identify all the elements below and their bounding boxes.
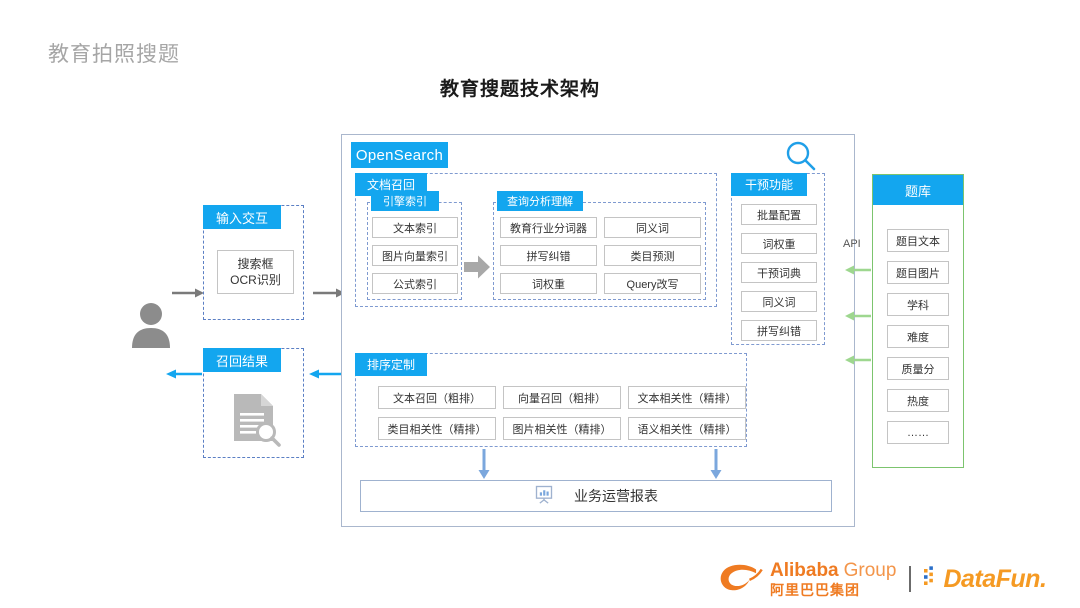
arrow-user-to-input-icon xyxy=(172,285,204,295)
query-analysis-item[interactable]: 同义词 xyxy=(604,217,701,238)
engine-index-panel: 引擎索引 文本索引 图片向量索引 公式索引 xyxy=(367,202,462,300)
slide-canvas: 教育拍照搜题 教育搜题技术架构 输入交互 搜索框 OCR识别 召回结果 xyxy=(0,0,1080,608)
ranking-item[interactable]: 文本相关性（精排） xyxy=(628,386,746,409)
arrow-down-report-left-icon xyxy=(478,449,490,479)
query-analysis-item[interactable]: 教育行业分词器 xyxy=(500,217,597,238)
api-label: API xyxy=(843,238,861,250)
person-icon xyxy=(130,300,172,348)
engine-index-item[interactable]: 图片向量索引 xyxy=(372,245,458,266)
datafun-logo: DataFun. xyxy=(924,565,1046,594)
arrow-down-report-right-icon xyxy=(710,449,722,479)
arrow-left-green-icon xyxy=(845,262,871,272)
operations-report-label: 业务运营报表 xyxy=(574,486,658,506)
alibaba-group-logo: AlibabaGroup 阿里巴巴集团 xyxy=(718,561,896,598)
question-bank-item[interactable]: 热度 xyxy=(887,389,949,412)
input-line-1: 搜索框 xyxy=(237,256,273,272)
engine-index-label: 引擎索引 xyxy=(371,191,439,211)
query-analysis-panel: 查询分析理解 教育行业分词器 同义词 拼写纠错 类目预测 词权重 Query改写 xyxy=(493,202,706,300)
logo-divider xyxy=(909,566,911,592)
intervention-panel: 干预功能 批量配置 词权重 干预词典 同义词 拼写纠错 xyxy=(731,173,825,345)
arrow-left-green-icon xyxy=(845,352,871,362)
ranking-item[interactable]: 语义相关性（精排） xyxy=(628,417,746,440)
alibaba-name-group: Group xyxy=(844,560,897,581)
recall-result-label: 召回结果 xyxy=(203,348,281,372)
arrow-left-green-icon xyxy=(845,308,871,318)
question-bank-item[interactable]: 题目文本 xyxy=(887,229,949,252)
intervention-item[interactable]: 批量配置 xyxy=(741,204,817,225)
document-search-icon xyxy=(227,391,283,447)
query-analysis-item[interactable]: 类目预测 xyxy=(604,245,701,266)
question-bank-item[interactable]: 学科 xyxy=(887,293,949,316)
intervention-item[interactable]: 词权重 xyxy=(741,233,817,254)
arrow-engine-to-recall-icon xyxy=(309,366,345,376)
doc-recall-panel: 文档召回 引擎索引 文本索引 图片向量索引 公式索引 查询分析理解 教育行业分词… xyxy=(355,173,717,307)
input-method-box: 搜索框 OCR识别 xyxy=(217,250,294,294)
datafun-dots-icon xyxy=(924,566,940,593)
intervention-label: 干预功能 xyxy=(731,173,807,196)
input-interaction-label: 输入交互 xyxy=(203,205,281,229)
engine-index-item[interactable]: 文本索引 xyxy=(372,217,458,238)
intervention-item[interactable]: 干预词典 xyxy=(741,262,817,283)
arrow-right-block-icon xyxy=(464,255,490,279)
question-bank-label: 题库 xyxy=(873,175,963,205)
intervention-item[interactable]: 拼写纠错 xyxy=(741,320,817,341)
query-analysis-item[interactable]: 词权重 xyxy=(500,273,597,294)
input-line-2: OCR识别 xyxy=(230,272,281,288)
query-analysis-label: 查询分析理解 xyxy=(497,191,583,211)
query-analysis-item[interactable]: 拼写纠错 xyxy=(500,245,597,266)
ranking-customization-panel: 排序定制 文本召回（粗排） 向量召回（粗排） 文本相关性（精排） 类目相关性（精… xyxy=(355,353,747,447)
question-bank-panel: 题库 题目文本 题目图片 学科 难度 质量分 热度 …… xyxy=(872,174,964,468)
recall-result-panel: 召回结果 xyxy=(203,348,304,458)
question-bank-item[interactable]: 质量分 xyxy=(887,357,949,380)
slide-title: 教育搜题技术架构 xyxy=(440,74,600,101)
ranking-item[interactable]: 向量召回（粗排） xyxy=(503,386,621,409)
chart-board-icon xyxy=(534,484,554,509)
ranking-item[interactable]: 类目相关性（精排） xyxy=(378,417,496,440)
question-bank-item[interactable]: 题目图片 xyxy=(887,261,949,284)
query-analysis-item[interactable]: Query改写 xyxy=(604,273,701,294)
input-interaction-panel: 输入交互 搜索框 OCR识别 xyxy=(203,205,304,320)
opensearch-title: OpenSearch xyxy=(351,142,448,168)
question-bank-item[interactable]: 难度 xyxy=(887,325,949,348)
intervention-item[interactable]: 同义词 xyxy=(741,291,817,312)
question-bank-item[interactable]: …… xyxy=(887,421,949,444)
ranking-item[interactable]: 文本召回（粗排） xyxy=(378,386,496,409)
alibaba-name-cn: 阿里巴巴集团 xyxy=(770,583,896,597)
engine-index-item[interactable]: 公式索引 xyxy=(372,273,458,294)
slide-kicker: 教育拍照搜题 xyxy=(48,38,180,68)
operations-report-bar[interactable]: 业务运营报表 xyxy=(360,480,832,512)
datafun-name: DataFun. xyxy=(943,565,1046,594)
arrow-recall-out-icon xyxy=(166,366,202,376)
alibaba-name-en: Alibaba xyxy=(770,560,839,581)
alibaba-smile-icon xyxy=(718,561,764,598)
opensearch-container: OpenSearch 文档召回 引擎索引 文本索引 图片向量索引 公式索引 查询… xyxy=(341,134,855,527)
search-icon[interactable] xyxy=(783,140,819,172)
footer-logos: AlibabaGroup 阿里巴巴集团 DataFun. xyxy=(718,557,1068,601)
ranking-label: 排序定制 xyxy=(355,353,427,376)
ranking-item[interactable]: 图片相关性（精排） xyxy=(503,417,621,440)
